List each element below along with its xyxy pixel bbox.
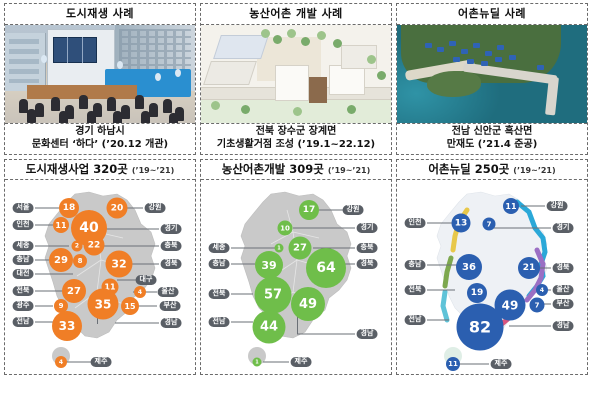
map-title-period: (’19~’21) [132,166,174,175]
map-title: 도시재생사업 320곳 (’19~’21) [5,160,195,180]
region-tag-gyeongbuk: 경북 [553,263,574,273]
bubble-gangwon: 20 [107,198,128,219]
case-caption-line1: 전북 장수군 장계면 [201,126,391,139]
case-caption-line1: 전남 신안군 흑산면 [397,126,587,139]
bubble-gangwon: 17 [299,200,319,220]
region-tag-gyeongnam: 경남 [161,318,182,328]
region-tag-jeju: 제주 [91,357,112,367]
rural-development-plan-photo [201,25,391,123]
region-tag-gyeongbuk: 경북 [161,259,182,269]
map-card-fishing-newdeal: 어촌뉴딜 250곳 (’19~’21) [396,159,588,375]
case-title: 농산어촌 개발 사례 [201,4,391,25]
bubble-gyeongbuk: 21 [518,257,540,279]
region-tag-jeonnam: 전남 [405,315,426,325]
region-tag-seoul: 서울 [13,203,34,213]
region-tag-gangwon: 강원 [343,205,364,215]
region-tag-gwangju: 광주 [13,301,34,311]
bubble-gyeongbuk: 32 [106,251,133,278]
region-tag-chungbuk: 충북 [357,243,378,253]
region-tag-jeju: 제주 [491,359,512,369]
map-title-name: 도시재생사업 [26,162,89,176]
region-tag-chungbuk: 충북 [161,241,182,251]
region-tag-busan: 부산 [160,301,181,311]
case-title: 어촌뉴딜 사례 [397,4,587,25]
map-title-total: 309곳 [289,162,324,176]
bubble-gyeonggi: 7 [483,218,496,231]
bubble-jeju: 11 [446,357,460,371]
bubble-gyeonggi: 10 [278,221,293,236]
bubble-jeonnam: 44 [253,311,286,344]
region-tag-gyeonggi: 경기 [161,224,182,234]
fishing-village-aerial-photo [397,25,587,123]
region-tag-jeonbuk: 전북 [209,289,230,299]
case-caption: 전북 장수군 장계면 기초생활거점 조성 (’19.1~22.12) [201,123,391,154]
region-tag-incheon: 인천 [405,218,426,228]
bubble-jeonbuk: 57 [255,277,292,314]
region-tag-sejong: 세종 [13,241,34,251]
bubble-chungbuk: 27 [289,237,312,260]
bubble-map-row: 도시재생사업 320곳 (’19~’21) [0,155,600,378]
region-tag-chungnam: 충남 [13,255,34,265]
bubble-gyeongnam: 49 [291,287,325,321]
region-tag-daegu: 대구 [136,275,157,285]
bubble-jeonbuk: 19 [467,283,487,303]
region-tag-jeonnam: 전남 [209,317,230,327]
bubble-chungnam: 29 [49,248,73,272]
case-caption-line1: 경기 하남시 [5,126,195,139]
urban-regeneration-photo [5,25,195,123]
region-tag-chungnam: 충남 [405,260,426,270]
region-tag-chungnam: 충남 [209,259,230,269]
region-tag-gangwon: 강원 [145,203,166,213]
region-tag-gyeongnam: 경남 [357,329,378,339]
bubble-gyeongbuk: 64 [306,248,346,288]
region-tag-gyeongnam: 경남 [553,321,574,331]
bubble-chungbuk: 22 [84,235,105,256]
infographic-sheet: 도시재생 사례 [0,0,600,401]
bubble-chungnam: 36 [456,254,482,280]
bubble-jeonnam: 33 [52,311,82,341]
region-tag-jeonnam: 전남 [13,317,34,327]
case-card-fishing: 어촌뉴딜 사례 [396,3,588,155]
seated-audience [13,87,191,123]
case-caption-line2: 문화센터 ‘하다’ (’20.12 개관) [5,139,195,152]
case-card-rural: 농산어촌 개발 사례 전북 장수군 장계면 [200,3,392,155]
map-title-period: (’19~’21) [328,166,370,175]
bubble-jeonnam: 82 [457,304,504,351]
bubble-gangwon: 11 [503,198,519,214]
region-tag-gyeonggi: 경기 [357,223,378,233]
map-title-name: 어촌뉴딜 [428,162,470,176]
region-tag-jeonbuk: 전북 [405,285,426,295]
case-photo-row: 도시재생 사례 [0,0,600,155]
region-tag-gyeongbuk: 경북 [357,259,378,269]
bubble-busan: 7 [530,298,545,313]
region-tag-daejeon: 대전 [13,269,34,279]
map-title: 농산어촌개발 309곳 (’19~’21) [201,160,391,180]
region-tag-ulsan: 울산 [158,287,179,297]
region-tag-gangwon: 강원 [547,201,568,211]
region-tag-incheon: 인천 [13,220,34,230]
bubble-incheon: 11 [53,217,69,233]
map-card-urban-regeneration: 도시재생사업 320곳 (’19~’21) [4,159,196,375]
bubble-busan: 15 [121,297,139,315]
bubble-ulsan: 4 [134,286,146,298]
map-title-total: 320곳 [93,162,128,176]
region-tag-busan: 부산 [553,299,574,309]
map-body: 강원 인천 경기 충남 경북 전북 울산 부산 경남 전남 제주 11 13 7… [397,180,587,374]
bubble-jeju: 1 [253,358,262,367]
map-title-period: (’19~’21) [513,166,555,175]
region-tag-sejong: 세종 [209,243,230,253]
region-tag-jeonbuk: 전북 [13,286,34,296]
map-card-rural-development: 농산어촌개발 309곳 (’19~’21) [200,159,392,375]
map-title-total: 250곳 [475,162,510,176]
region-tag-gyeonggi: 경기 [553,223,574,233]
case-title: 도시재생 사례 [5,4,195,25]
korea-map-outline [5,180,195,374]
map-body: 서울 인천 경기 강원 세종 충북 충남 대전 경북 대구 전북 울산 부산 광… [5,180,195,374]
bubble-daejeon: 8 [73,254,87,268]
case-caption: 경기 하남시 문화센터 ‘하다’ (’20.12 개관) [5,123,195,154]
bubble-jeonbuk: 27 [62,279,86,303]
bubble-jeju: 4 [55,356,67,368]
region-tag-ulsan: 울산 [553,285,574,295]
map-title-name: 농산어촌개발 [222,162,285,176]
region-tag-jeju: 제주 [291,357,312,367]
case-caption-line2: 기초생활거점 조성 (’19.1~22.12) [201,139,391,152]
bubble-incheon: 13 [452,214,471,233]
bubble-chungnam: 39 [255,251,283,279]
case-caption: 전남 신안군 흑산면 만재도 (’21.4 준공) [397,123,587,154]
case-card-urban: 도시재생 사례 [4,3,196,155]
case-caption-line2: 만재도 (’21.4 준공) [397,139,587,152]
bubble-sejong: 2 [72,241,83,252]
map-title: 어촌뉴딜 250곳 (’19~’21) [397,160,587,180]
bubble-gyeongnam: 35 [88,289,119,320]
bubble-ulsan: 4 [536,284,548,296]
bubble-sejong: 1 [275,244,284,253]
map-body: 강원 경기 세종 충북 충남 경북 전북 경남 전남 제주 17 10 1 27… [201,180,391,374]
